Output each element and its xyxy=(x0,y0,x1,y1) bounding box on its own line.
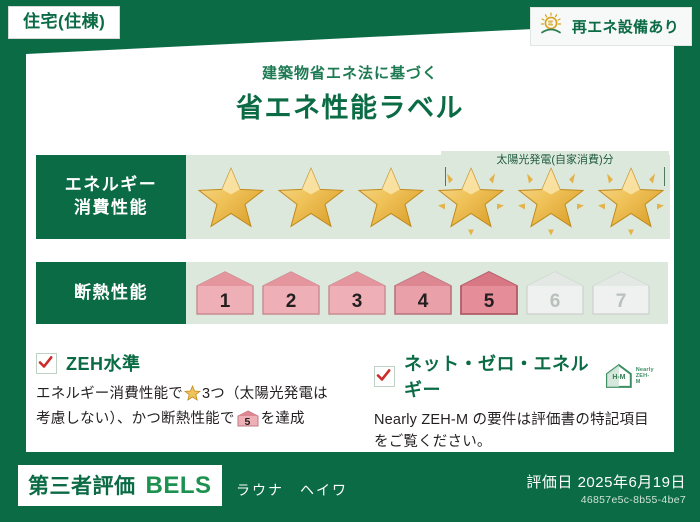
star-item xyxy=(192,156,270,238)
feature-zeh-description: エネルギー消費性能で3つ（太陽光発電は考慮しない）、かつ断熱性能で5を達成 xyxy=(36,383,338,431)
star-icon xyxy=(195,163,267,233)
zeh-m-house-icon: H-M xyxy=(604,363,634,389)
feature-nze-header: ネット・ゼロ・エネルギー H-M Nearly ZEH-M xyxy=(374,350,654,402)
star-item xyxy=(272,156,350,238)
insulation-performance-row: 断熱性能 1 2 xyxy=(36,262,668,324)
building-type-chip: 住宅(住棟) xyxy=(8,6,120,39)
insulation-level-item: 2 xyxy=(260,270,322,316)
solar-bracket-caption: 太陽光発電(自家消費)分 xyxy=(441,151,669,167)
zeh-m-caption-line1: Nearly xyxy=(636,367,654,373)
star-icon xyxy=(355,163,427,233)
star-icon xyxy=(275,163,347,233)
insulation-performance-label: 断熱性能 xyxy=(36,262,186,324)
insulation-level-number: 3 xyxy=(352,292,363,316)
energy-label-line2: 消費性能 xyxy=(74,197,148,220)
insulation-level-item: 7 xyxy=(590,270,652,316)
insulation-level-item: 5 xyxy=(458,270,520,316)
renewable-equipment-badge: 再エネ設備あり xyxy=(530,7,692,46)
insulation-level-item: 1 xyxy=(194,270,256,316)
energy-stars-body: 太陽光発電(自家消費)分 xyxy=(186,155,670,239)
third-party-label: 第三者評価 xyxy=(28,470,136,500)
energy-performance-label: エネルギー 消費性能 xyxy=(36,155,186,239)
feature-columns: ZEH水準 エネルギー消費性能で3つ（太陽光発電は考慮しない）、かつ断熱性能で5… xyxy=(36,350,668,454)
star-item xyxy=(352,156,430,238)
zeh-text-part1: エネルギー消費性能で xyxy=(36,386,183,402)
feature-nze-title: ネット・ゼロ・エネルギー xyxy=(404,350,591,402)
evaluation-info: 評価日 2025年6月19日 46857e5c-8b55-4be7 xyxy=(526,471,686,506)
evaluation-date-value: 2025年6月19日 xyxy=(578,474,686,491)
feature-zeh-standard: ZEH水準 エネルギー消費性能で3つ（太陽光発電は考慮しない）、かつ断熱性能で5… xyxy=(36,350,352,454)
bels-logo-text: BELS xyxy=(146,472,212,500)
energy-performance-label: 住宅(住棟) 再エネ設備あり 建築物省エネ法に基づく xyxy=(0,0,700,522)
bels-footer-chip: 第三者評価 BELS xyxy=(18,465,222,506)
zeh-m-logo: H-M Nearly ZEH-M xyxy=(604,363,654,389)
zeh-m-caption-line2: ZEH-M xyxy=(636,373,650,385)
insulation-level-item: 3 xyxy=(326,270,388,316)
insulation-level-number: 2 xyxy=(286,292,297,316)
insulation-label-text: 断熱性能 xyxy=(74,282,148,305)
label-subtitle: 建築物省エネ法に基づく xyxy=(0,62,700,83)
zeh-m-logo-caption: Nearly ZEH-M xyxy=(636,367,654,386)
insulation-level-number: 6 xyxy=(550,292,561,316)
feature-zeh-title: ZEH水準 xyxy=(66,350,141,376)
title-block: 建築物省エネ法に基づく 省エネ性能ラベル xyxy=(0,62,700,125)
solar-sun-icon xyxy=(539,12,565,41)
label-title: 省エネ性能ラベル xyxy=(0,86,700,125)
insulation-level-item: 6 xyxy=(524,270,586,316)
checkbox-checked-icon xyxy=(374,366,395,387)
energy-performance-row: エネルギー 消費性能 太陽光発電(自家消費)分 xyxy=(36,155,668,239)
insulation-levels-body: 1 2 3 xyxy=(186,262,668,324)
feature-nze-description: Nearly ZEH-M の要件は評価書の特記項目をご覧ください。 xyxy=(374,409,654,454)
feature-net-zero-energy: ネット・ゼロ・エネルギー H-M Nearly ZEH-M Nearly ZEH… xyxy=(352,350,668,454)
energy-label-line1: エネルギー xyxy=(65,174,158,197)
renewable-badge-label: 再エネ設備あり xyxy=(572,16,679,37)
insulation-level-group: 1 2 3 xyxy=(186,262,652,324)
house-icon-inline-number: 5 xyxy=(237,417,259,428)
property-name: ラウナ ヘイワ xyxy=(236,480,348,500)
solar-bracket xyxy=(445,165,665,186)
insulation-level-number: 4 xyxy=(418,292,429,316)
zeh-text-part3: を達成 xyxy=(261,411,305,427)
house-icon-inline: 5 xyxy=(237,410,259,427)
evaluation-date: 評価日 2025年6月19日 xyxy=(526,471,686,492)
record-id: 46857e5c-8b55-4be7 xyxy=(526,494,686,506)
feature-zeh-header: ZEH水準 xyxy=(36,350,338,376)
star-icon-inline xyxy=(184,385,201,408)
zeh-m-house-text: H-M xyxy=(612,374,625,381)
evaluation-date-label: 評価日 xyxy=(526,474,573,491)
checkbox-checked-icon xyxy=(36,353,57,374)
insulation-level-number: 5 xyxy=(484,292,495,316)
insulation-level-number: 7 xyxy=(616,292,627,316)
insulation-level-item: 4 xyxy=(392,270,454,316)
insulation-level-number: 1 xyxy=(220,292,231,316)
